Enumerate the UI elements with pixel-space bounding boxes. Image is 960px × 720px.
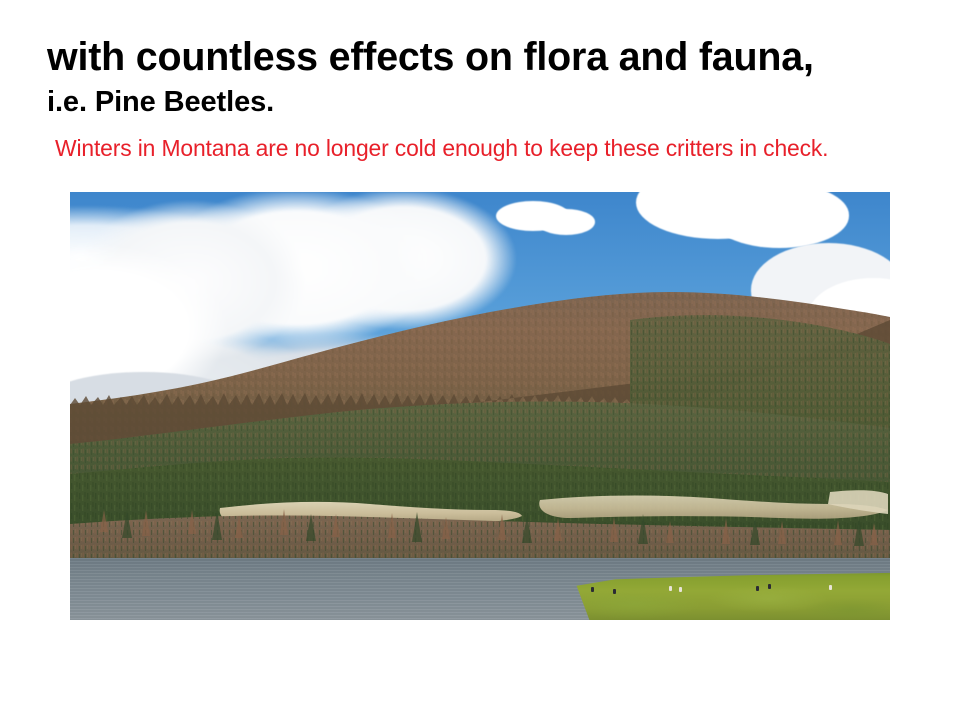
person-figure [829, 585, 832, 590]
person-figure [756, 586, 759, 591]
person-figure [768, 584, 771, 589]
photo-inner [70, 192, 890, 620]
person-figure [613, 589, 616, 594]
landscape-photo [70, 192, 890, 620]
hillside-region [70, 192, 890, 620]
slide-title-line-2: i.e. Pine Beetles. [47, 87, 274, 117]
slide-subtitle: Winters in Montana are no longer cold en… [55, 136, 828, 160]
person-figure [669, 586, 672, 591]
presentation-slide: with countless effects on flora and faun… [0, 0, 960, 720]
person-figure [591, 587, 594, 592]
slide-title-line-1: with countless effects on flora and faun… [47, 36, 814, 78]
